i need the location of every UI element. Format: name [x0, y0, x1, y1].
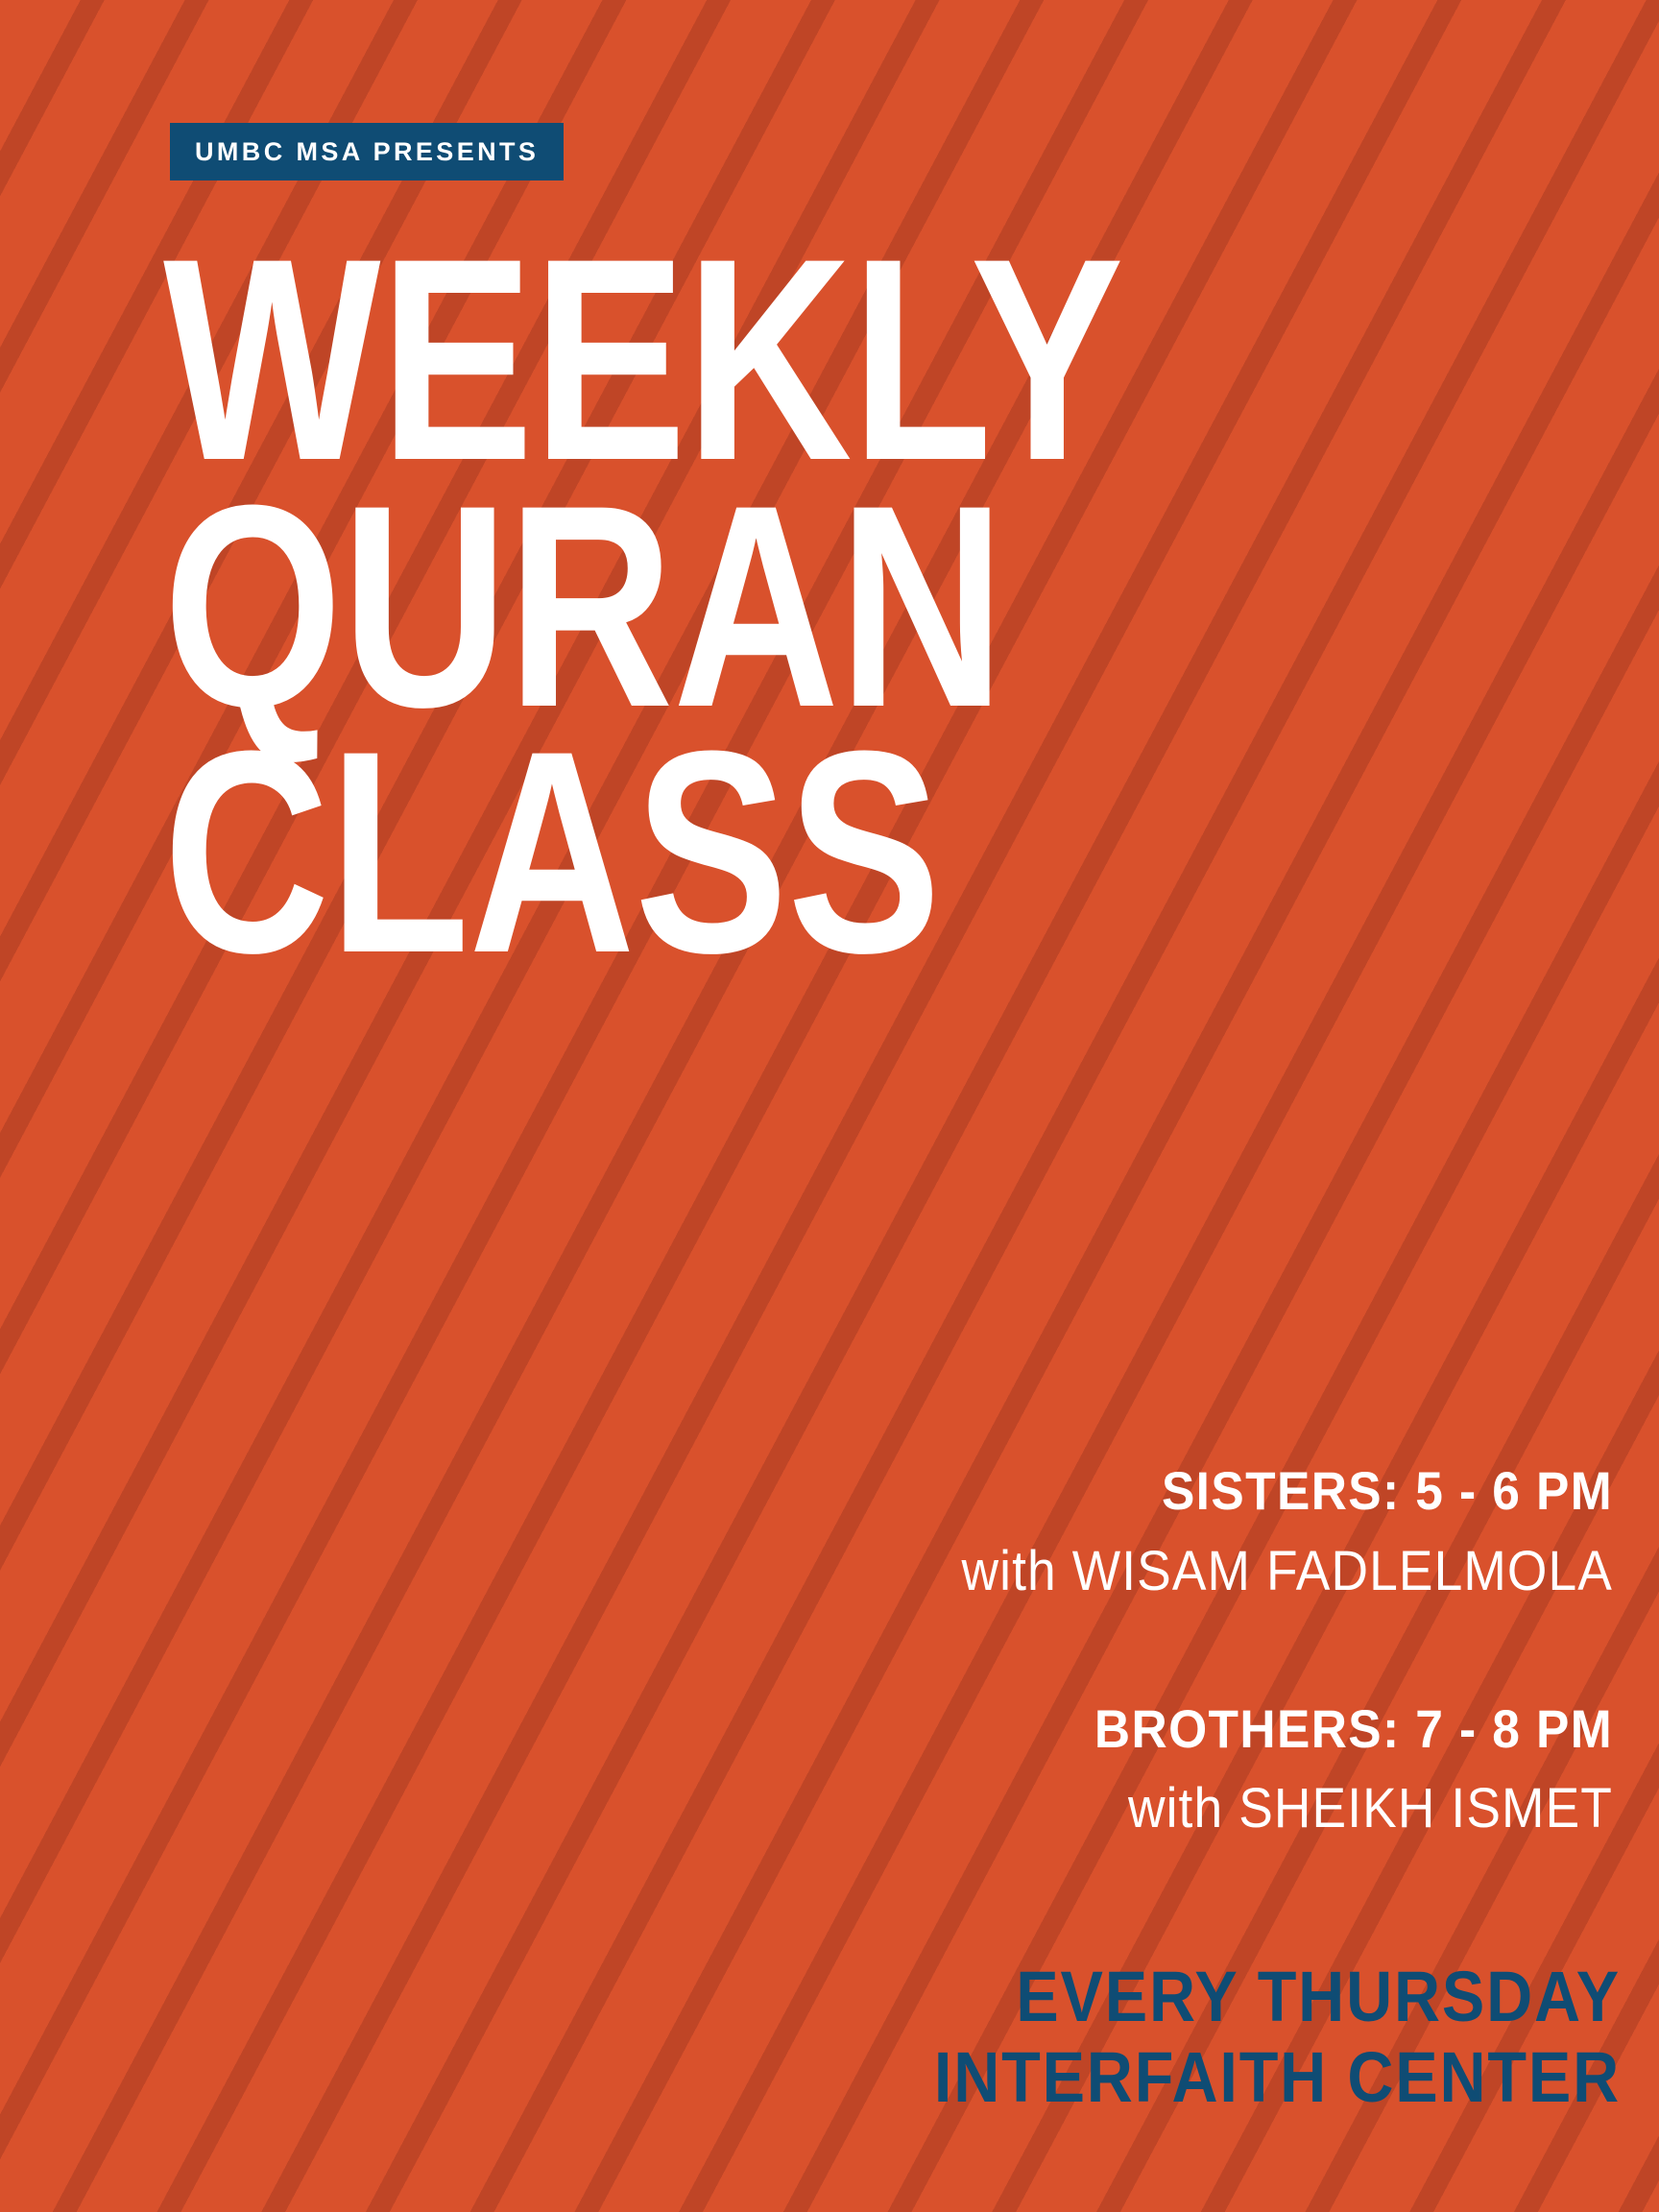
headline-line-3: CLASS: [163, 729, 1162, 975]
presents-banner: UMBC MSA PRESENTS: [170, 123, 564, 180]
footer-location: INTERFAITH CENTER: [584, 2037, 1621, 2118]
brothers-time: BROTHERS: 7 - 8 PM: [641, 1701, 1613, 1758]
schedule-block: SISTERS: 5 - 6 PM with WISAM FADLELMOLA …: [557, 1463, 1613, 1839]
footer-day: EVERY THURSDAY: [584, 1957, 1621, 2037]
brothers-instructor: with SHEIKH ISMET: [641, 1780, 1613, 1839]
schedule-group-sisters: SISTERS: 5 - 6 PM with WISAM FADLELMOLA: [557, 1463, 1613, 1601]
sisters-time: SISTERS: 5 - 6 PM: [641, 1463, 1613, 1520]
presents-banner-label: UMBC MSA PRESENTS: [195, 139, 539, 165]
poster-canvas: UMBC MSA PRESENTS WEEKLY QURAN CLASS SIS…: [0, 0, 1659, 2212]
sisters-instructor: with WISAM FADLELMOLA: [641, 1543, 1613, 1601]
schedule-group-brothers: BROTHERS: 7 - 8 PM with SHEIKH ISMET: [557, 1701, 1613, 1839]
headline-block: WEEKLY QURAN CLASS: [163, 236, 1411, 975]
footer-block: EVERY THURSDAY INTERFAITH CENTER: [469, 1957, 1621, 2119]
